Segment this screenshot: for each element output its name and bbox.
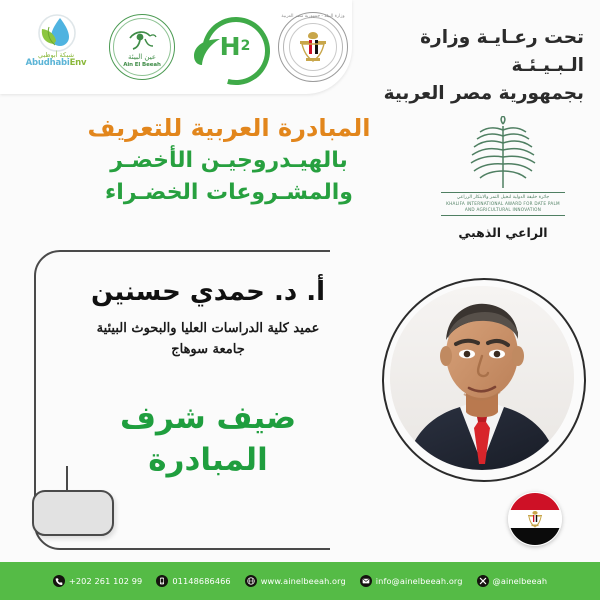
contact-email[interactable]: info@ainelbeeah.org: [360, 575, 463, 587]
contact-phone[interactable]: +202 261 102 99: [53, 575, 142, 587]
mobile-icon: [156, 575, 168, 587]
seal-arabic-text: عين البيئة: [128, 53, 156, 61]
flag-eagle-icon: [527, 510, 543, 528]
contact-mobile[interactable]: 01148686466: [156, 575, 230, 587]
eye-of-horus-icon: [127, 26, 157, 52]
contact-footer: +202 261 102 99 01148686466 www.ainelbee…: [0, 562, 600, 600]
green-hydrogen-h2-logo: H2: [186, 11, 268, 83]
sponsor-english-line2: AND AGRICULTURAL INNOVATION: [428, 207, 578, 213]
contact-social-text: @ainelbeeah: [493, 576, 548, 586]
patronage-slogan: تحت رعـايـة وزارة الـبـيـئـة بجمهورية مص…: [366, 24, 584, 107]
speaker-role-line1: عميد كلية الدراسات العليا والبحوث البيئي…: [48, 318, 368, 339]
contact-website[interactable]: www.ainelbeeah.org: [245, 575, 346, 587]
globe-icon: [245, 575, 257, 587]
initiative-title-line2: بالهيـدروجيـن الأخضـر: [34, 145, 424, 177]
egypt-seal-caption: وزارة البيئة - جمهورية مصر العربية: [276, 14, 350, 19]
initiative-title-line1: المبادرة العربية للتعريف: [34, 112, 424, 145]
speaker-info: أ. د. حمدي حسنين عميد كلية الدراسات العل…: [48, 276, 368, 360]
contact-email-text: info@ainelbeeah.org: [376, 576, 463, 586]
egypt-ministry-of-environment-seal: وزارة البيئة - جمهورية مصر العربية: [276, 10, 350, 84]
email-icon: [360, 575, 372, 587]
h2-symbol-text: H2: [206, 17, 264, 75]
speaker-role-line2: جامعة سوهاج: [48, 339, 368, 360]
contact-phone-text: +202 261 102 99: [69, 576, 142, 586]
sponsor-divider-top: [441, 192, 565, 193]
speaker-name: أ. د. حمدي حسنين: [48, 276, 368, 309]
khalifa-award-palm-icon: [460, 116, 546, 190]
speaker-portrait: [390, 286, 574, 470]
abudhabi-environment-logo: شبكة أبوظبي AbudhabiEnv: [14, 12, 98, 82]
x-twitter-icon: [477, 575, 489, 587]
guest-of-honor-line2: المبادرة: [60, 440, 356, 482]
seal-english-text: Ain El Beeah: [123, 62, 161, 68]
speaker-portrait-image: [390, 286, 574, 470]
eagle-of-saladin-icon: [298, 30, 328, 64]
contact-mobile-text: 01148686466: [172, 576, 230, 586]
sponsor-divider-bottom: [441, 215, 565, 216]
patronage-slogan-line2: بجمهورية مصر العربية: [366, 80, 584, 108]
sponsor-logo-panel: شبكة أبوظبي AbudhabiEnv عين البيئة: [0, 0, 352, 94]
initiative-title-line3: والمشـروعات الخضـراء: [34, 177, 424, 209]
poster-canvas: شبكة أبوظبي AbudhabiEnv عين البيئة: [0, 0, 600, 600]
guest-of-honor-label: ضيف شرف المبادرة: [60, 398, 356, 481]
ain-el-beeah-seal-logo: عين البيئة Ain El Beeah: [106, 11, 178, 83]
golden-sponsor-block: جائزة خليفة الدولية لنخيل التمر والابتكا…: [428, 116, 578, 240]
contact-website-text: www.ainelbeeah.org: [261, 576, 346, 586]
poster-header: شبكة أبوظبي AbudhabiEnv عين البيئة: [0, 0, 600, 108]
guest-of-honor-line1: ضيف شرف: [60, 398, 356, 440]
phone-icon: [53, 575, 65, 587]
abudhabi-leaf-drop-icon: [36, 14, 78, 54]
sponsor-role-label: الراعي الذهبي: [428, 225, 578, 240]
egypt-flag-badge: [508, 492, 562, 546]
flag-stripe-red: [509, 493, 561, 510]
flag-stripe-black: [509, 528, 561, 545]
gray-decorative-pill: [32, 490, 114, 536]
abudhabi-logo-text: شبكة أبوظبي AbudhabiEnv: [16, 52, 96, 68]
patronage-slogan-line1: تحت رعـايـة وزارة الـبـيـئـة: [366, 24, 584, 80]
contact-social[interactable]: @ainelbeeah: [477, 575, 548, 587]
speaker-role: عميد كلية الدراسات العليا والبحوث البيئي…: [48, 318, 368, 360]
abudhabi-logo-english: AbudhabiEnv: [16, 59, 96, 68]
initiative-title: المبادرة العربية للتعريف بالهيـدروجيـن ا…: [34, 112, 424, 209]
